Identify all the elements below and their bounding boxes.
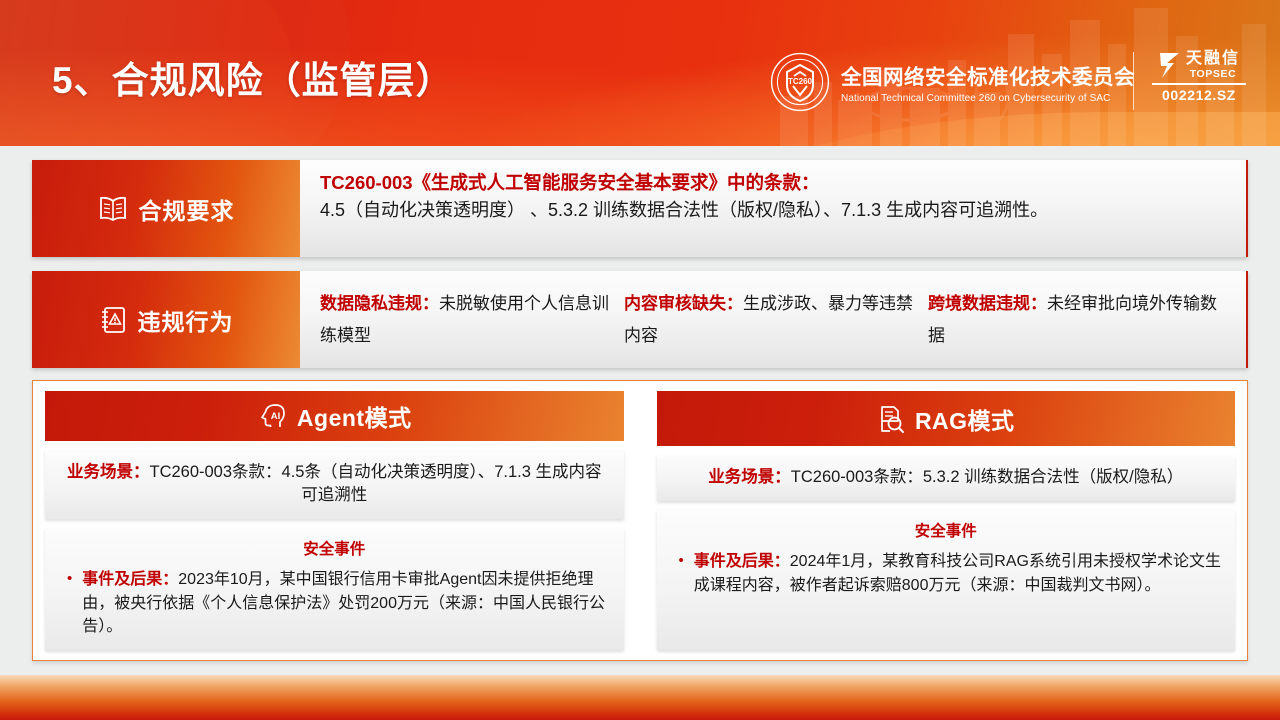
header-divider (1133, 52, 1134, 110)
violation-behavior-content: 数据隐私违规：未脱敏使用个人信息训练模型 内容审核缺失：生成涉政、暴力等违禁内容… (300, 271, 1248, 368)
compliance-requirement-body: 4.5（自动化决策透明度） 、5.3.2 训练数据合法性（版权/隐私）、7.1.… (320, 198, 1232, 223)
svg-text:AI: AI (271, 411, 281, 422)
document-search-icon (877, 404, 905, 434)
violation-behavior-label: 违规行为 (32, 271, 300, 368)
slide: 5、合规风险（监管层） TC260 全国网络安全标准化技术委员会 Nationa… (0, 0, 1280, 720)
svg-text:TC260: TC260 (788, 77, 813, 86)
agent-scene-text: TC260-003条款：4.5条（自动化决策透明度）、7.1.3 生成内容可追溯… (149, 463, 601, 504)
agent-event-title: 安全事件 (59, 537, 610, 559)
agent-mode-title: Agent模式 (297, 399, 412, 433)
agent-event-paragraph: 事件及后果：2023年10月，某中国银行信用卡审批Agent因未提供拒绝理由，被… (82, 568, 609, 638)
agent-scene-paragraph: 业务场景：TC260-003条款：4.5条（自动化决策透明度）、7.1.3 生成… (61, 461, 608, 508)
violation-item-head: 数据隐私违规： (320, 294, 439, 313)
violation-item: 内容审核缺失：生成涉政、暴力等违禁内容 (624, 288, 928, 353)
modes-card-list: AI Agent模式 业务场景：TC260-003条款：4.5条（自动化决策透明… (33, 381, 1247, 660)
topsec-mark-icon (1158, 50, 1181, 80)
violation-item: 数据隐私违规：未脱敏使用个人信息训练模型 (320, 288, 624, 353)
topsec-logo-block: 天融信 TOPSEC 002212.SZ (1152, 50, 1246, 103)
violation-columns: 数据隐私违规：未脱敏使用个人信息训练模型 内容审核缺失：生成涉政、暴力等违禁内容… (320, 282, 1232, 358)
agent-mode-header: AI Agent模式 (45, 391, 624, 441)
agent-scene-label: 业务场景： (67, 463, 150, 481)
agent-event-item: • 事件及后果：2023年10月，某中国银行信用卡审批Agent因未提供拒绝理由… (59, 568, 610, 638)
slide-footer (0, 675, 1280, 720)
violation-behavior-row: 违规行为 数据隐私违规：未脱敏使用个人信息训练模型 内容审核缺失：生成涉政、暴力… (32, 271, 1248, 368)
ai-head-icon: AI (257, 401, 287, 431)
compliance-requirement-row: 合规要求 TC260-003《生成式人工智能服务安全基本要求》中的条款： 4.5… (32, 160, 1248, 257)
agent-security-event: 安全事件 • 事件及后果：2023年10月，某中国银行信用卡审批Agent因未提… (45, 528, 624, 650)
topsec-stock-code: 002212.SZ (1162, 87, 1236, 103)
agent-event-label: 事件及后果： (82, 571, 178, 588)
tc260-seal-icon: TC260 (770, 52, 830, 112)
tc260-name-cn: 全国网络安全标准化技术委员会 (841, 60, 1135, 90)
violation-item-head: 跨境数据违规： (928, 294, 1047, 313)
agent-business-scene: 业务场景：TC260-003条款：4.5条（自动化决策透明度）、7.1.3 生成… (45, 450, 624, 520)
bullet-icon: • (679, 550, 684, 596)
topsec-rule (1152, 83, 1246, 85)
topsec-name-en: TOPSEC (1190, 69, 1237, 80)
rag-event-paragraph: 事件及后果：2024年1月，某教育科技公司RAG系统引用未授权学术论文生成课程内… (694, 550, 1221, 596)
violation-item-head: 内容审核缺失： (624, 294, 743, 313)
topsec-name-cn: 天融信 (1186, 51, 1240, 67)
rag-security-event: 安全事件 • 事件及后果：2024年1月，某教育科技公司RAG系统引用未授权学术… (657, 510, 1236, 650)
open-book-icon (98, 195, 128, 223)
slide-body: 合规要求 TC260-003《生成式人工智能服务安全基本要求》中的条款： 4.5… (0, 146, 1280, 675)
rag-mode-card: RAG模式 业务场景：TC260-003条款：5.3.2 训练数据合法性（版权/… (657, 391, 1236, 650)
compliance-requirement-label: 合规要求 (32, 160, 300, 257)
compliance-requirement-title: TC260-003《生成式人工智能服务安全基本要求》中的条款： (320, 171, 1232, 196)
rag-business-scene: 业务场景：TC260-003条款：5.3.2 训练数据合法性（版权/隐私） (657, 455, 1236, 501)
rag-mode-header: RAG模式 (657, 391, 1236, 446)
agent-mode-card: AI Agent模式 业务场景：TC260-003条款：4.5条（自动化决策透明… (45, 391, 624, 650)
warning-notebook-icon (99, 305, 127, 335)
rag-scene-paragraph: 业务场景：TC260-003条款：5.3.2 训练数据合法性（版权/隐私） (673, 466, 1220, 489)
rag-event-title: 安全事件 (671, 519, 1222, 541)
page-title: 5、合规风险（监管层） (52, 50, 454, 104)
rag-scene-text: TC260-003条款：5.3.2 训练数据合法性（版权/隐私） (791, 468, 1183, 486)
rag-scene-label: 业务场景： (708, 468, 791, 486)
tc260-name-en: National Technical Committee 260 on Cybe… (841, 93, 1135, 104)
rag-event-label: 事件及后果： (694, 553, 790, 570)
tc260-logo-block: TC260 全国网络安全标准化技术委员会 National Technical … (770, 52, 1135, 112)
bullet-icon: • (67, 568, 72, 638)
compliance-requirement-content: TC260-003《生成式人工智能服务安全基本要求》中的条款： 4.5（自动化决… (300, 160, 1248, 257)
violation-behavior-label-text: 违规行为 (138, 303, 234, 337)
modes-panel: AI Agent模式 业务场景：TC260-003条款：4.5条（自动化决策透明… (32, 380, 1248, 661)
rag-mode-title: RAG模式 (915, 402, 1015, 436)
rag-event-item: • 事件及后果：2024年1月，某教育科技公司RAG系统引用未授权学术论文生成课… (671, 550, 1222, 596)
compliance-requirement-label-text: 合规要求 (139, 192, 235, 226)
slide-header: 5、合规风险（监管层） TC260 全国网络安全标准化技术委员会 Nationa… (0, 0, 1280, 146)
violation-item: 跨境数据违规：未经审批向境外传输数据 (928, 288, 1232, 353)
